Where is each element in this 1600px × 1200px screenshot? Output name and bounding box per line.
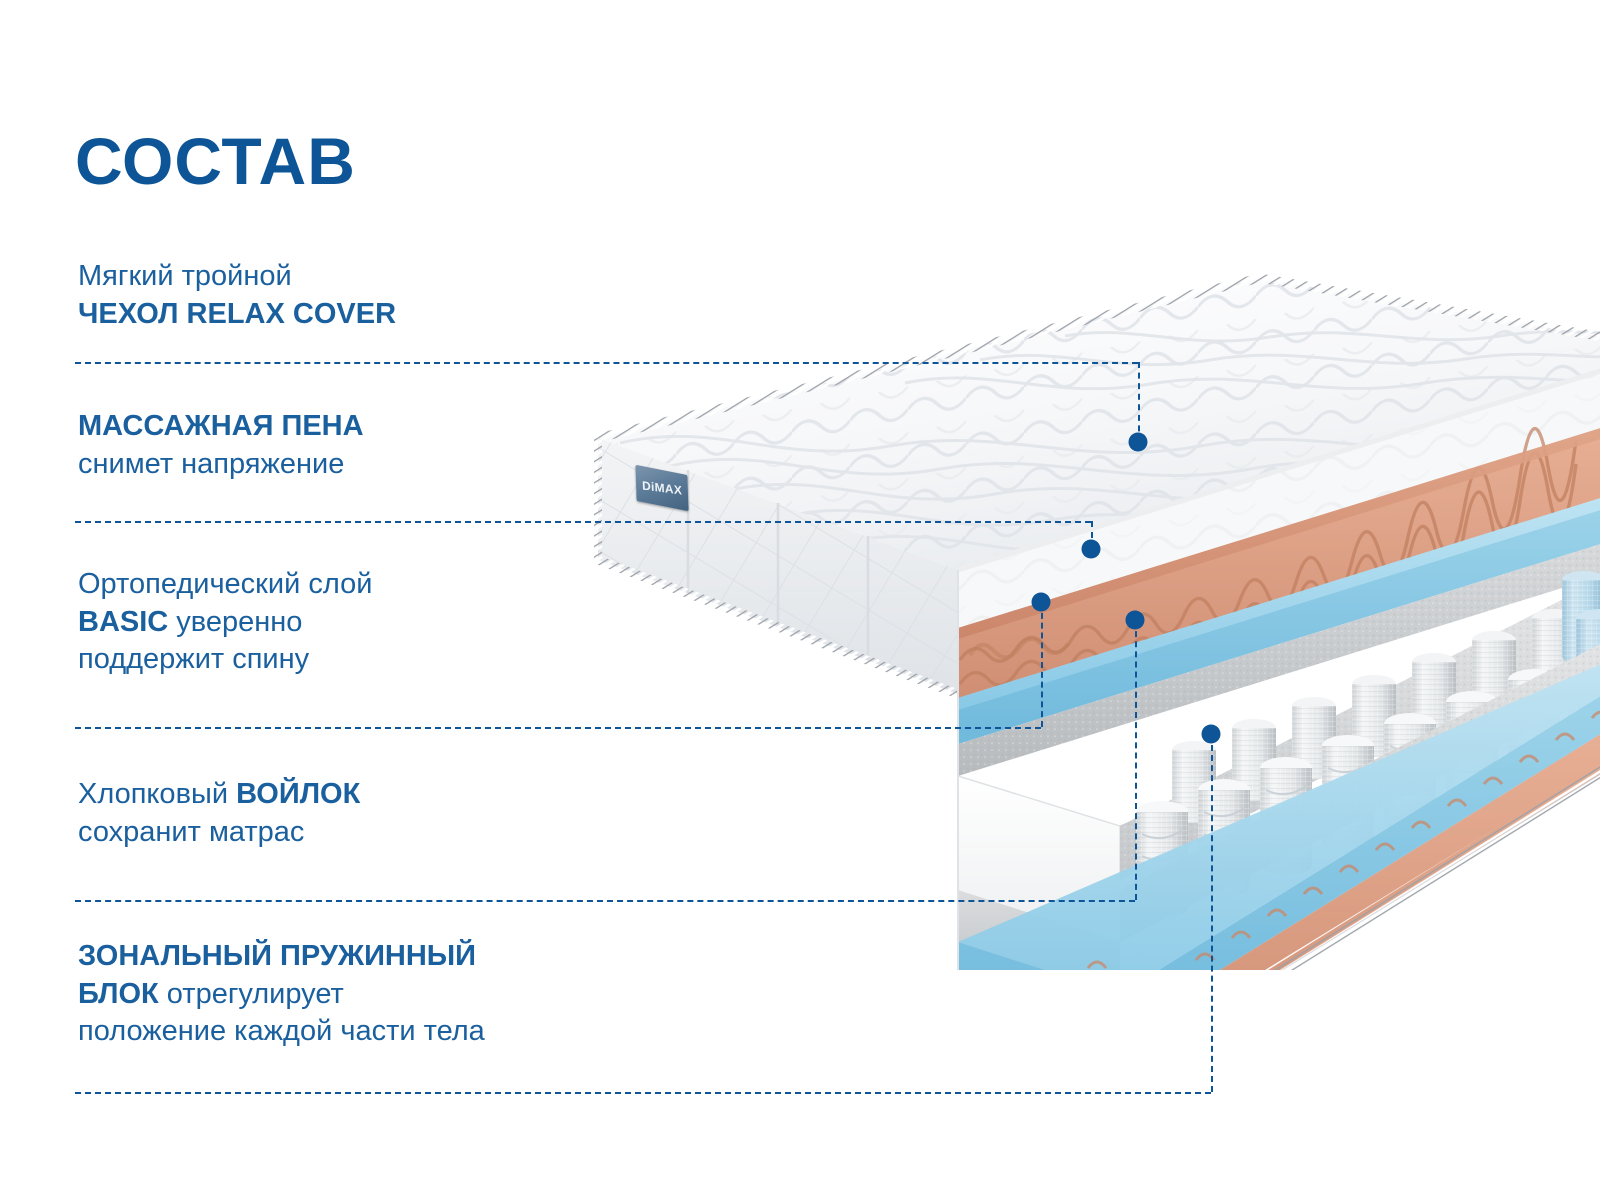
feature-text-basic-layer: Ортопедический слой BASIC уверенно подде… — [78, 566, 372, 679]
feature-line-mixed: BASIC уверенно — [78, 604, 372, 642]
leader-line-massage-foam-horizontal — [75, 521, 1091, 523]
mattress-cutaway-illustration — [560, 270, 1600, 970]
leader-dot-felt — [1126, 611, 1145, 630]
leader-line-cover-vertical — [1138, 362, 1140, 442]
feature-text-massage-foam: МАССАЖНАЯ ПЕНА снимет напряжение — [78, 408, 364, 483]
feature-line-emphasis: ЧЕХОЛ RELAX COVER — [78, 296, 396, 334]
feature-line-mixed: Хлопковый ВОЙЛОК — [78, 776, 360, 814]
feature-line-emphasis: ЗОНАЛЬНЫЙ ПРУЖИННЫЙ — [78, 938, 485, 976]
feature-word-emphasis: БЛОК — [78, 978, 159, 1010]
leader-line-felt-vertical — [1135, 621, 1137, 900]
feature-text-relax-cover: Мягкий тройной ЧЕХОЛ RELAX COVER — [78, 258, 396, 333]
leader-line-basic-vertical — [1041, 603, 1043, 727]
leader-line-felt-horizontal — [75, 900, 1135, 902]
leader-dot-springs — [1202, 725, 1221, 744]
feature-text-zonal-spring-block: ЗОНАЛЬНЫЙ ПРУЖИННЫЙ БЛОК отрегулирует по… — [78, 938, 485, 1051]
page-title: СОСТАВ — [75, 128, 356, 194]
feature-word: Хлопковый — [78, 778, 236, 810]
leader-line-cover-horizontal — [75, 362, 1138, 364]
feature-line: сохранит матрас — [78, 814, 360, 852]
feature-word-emphasis: BASIC — [78, 606, 168, 638]
feature-line-mixed: БЛОК отрегулирует — [78, 976, 485, 1014]
feature-line: поддержит спину — [78, 641, 372, 679]
feature-text-cotton-felt: Хлопковый ВОЙЛОК сохранит матрас — [78, 776, 360, 851]
feature-line: положение каждой части тела — [78, 1013, 485, 1051]
leader-dot-massage-foam — [1082, 540, 1101, 559]
feature-word: уверенно — [168, 606, 302, 638]
feature-line: снимет напряжение — [78, 446, 364, 484]
feature-line: Мягкий тройной — [78, 258, 396, 296]
leader-dot-cover — [1129, 433, 1148, 452]
feature-word-emphasis: ВОЙЛОК — [236, 778, 360, 810]
feature-line-emphasis: МАССАЖНАЯ ПЕНА — [78, 408, 364, 446]
brand-logo-text: DiMAX — [642, 478, 683, 497]
leader-dot-basic — [1032, 593, 1051, 612]
leader-line-springs-horizontal — [75, 1092, 1211, 1094]
leader-line-springs-vertical — [1211, 735, 1213, 1092]
feature-word: отрегулирует — [159, 978, 344, 1010]
feature-line: Ортопедический слой — [78, 566, 372, 604]
infographic-canvas: СОСТАВ — [0, 0, 1600, 1200]
leader-line-basic-horizontal — [75, 727, 1041, 729]
